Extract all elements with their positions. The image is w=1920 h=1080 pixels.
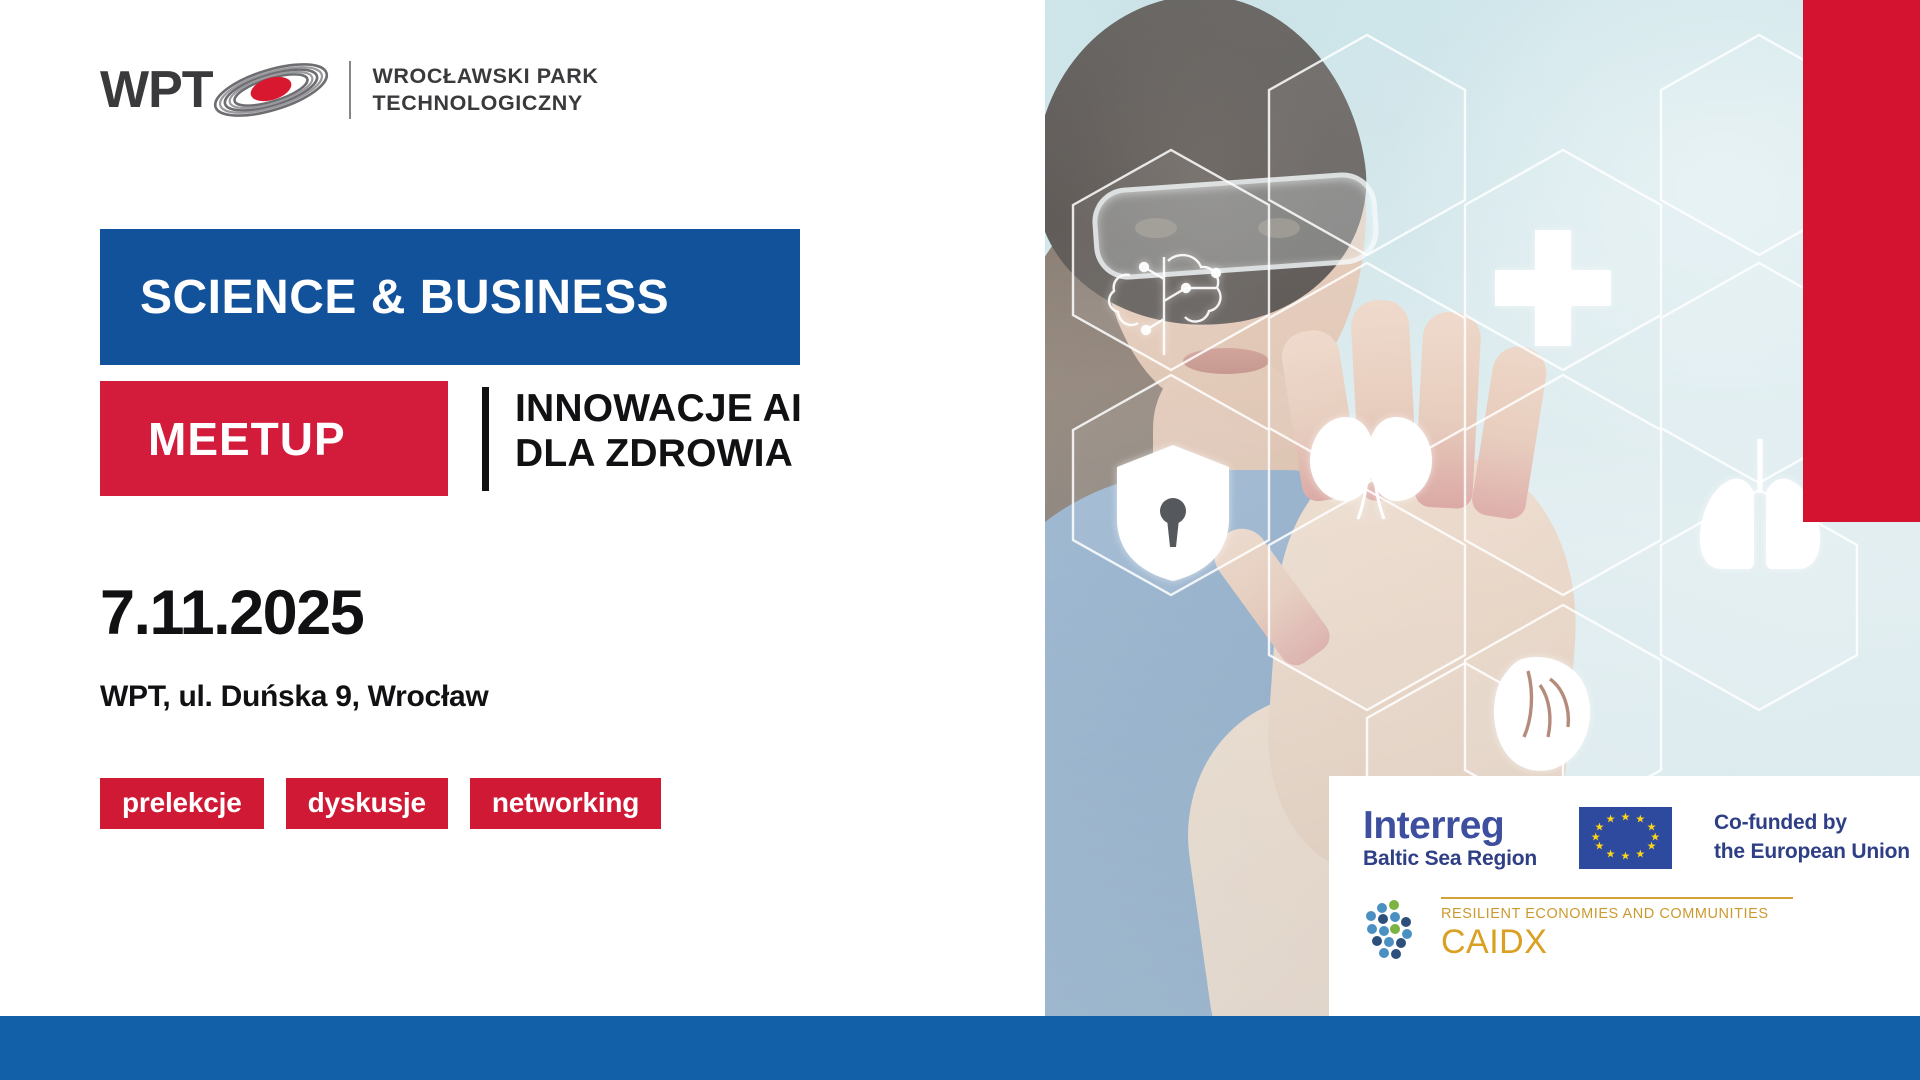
interreg-logo: Interreg Baltic Sea Region (1363, 806, 1537, 869)
eu-flag-icon: ★ ★ ★ ★ ★ ★ ★ ★ ★ ★ ★ ★ (1579, 807, 1672, 869)
event-poster: WPT WROCŁAWSKI PARK (0, 0, 1920, 1080)
event-venue: WPT, ul. Duńska 9, Wrocław (100, 680, 488, 714)
wpt-logo[interactable]: WPT WROCŁAWSKI PARK (100, 52, 599, 128)
meetup-headline-row: MEETUP INNOWACJE AI DLA ZDROWIA (100, 381, 802, 496)
meetup-title-line-2: DLA ZDROWIA (515, 431, 802, 476)
kidneys-icon (1281, 400, 1461, 540)
event-tag-list: prelekcje dyskusje networking (100, 778, 661, 829)
science-business-label: SCIENCE & BUSINESS (140, 270, 669, 325)
interreg-wordmark: Interreg (1363, 806, 1537, 845)
wpt-name-line-1: WROCŁAWSKI PARK (373, 63, 599, 90)
interreg-region-label: Baltic Sea Region (1363, 848, 1537, 869)
left-content-panel: WPT WROCŁAWSKI PARK (0, 0, 1045, 1016)
caidx-logo-row: RESILIENT ECONOMIES AND COMMUNITIES CAID… (1363, 895, 1920, 961)
meetup-title: INNOWACJE AI DLA ZDROWIA (515, 381, 802, 496)
wpt-logo-divider (349, 61, 351, 119)
meetup-title-line-1: INNOWACJE AI (515, 386, 802, 431)
red-accent-block (1803, 0, 1920, 522)
eu-funding-text: Co-funded by the European Union (1714, 809, 1910, 866)
interreg-eu-row: Interreg Baltic Sea Region ★ ★ ★ ★ ★ ★ ★… (1363, 806, 1920, 869)
meetup-chip: MEETUP (100, 381, 448, 496)
science-business-banner: SCIENCE & BUSINESS (100, 229, 800, 365)
partner-logo-panel: Interreg Baltic Sea Region ★ ★ ★ ★ ★ ★ ★… (1329, 776, 1920, 1016)
heart-organ-icon (1473, 640, 1623, 790)
tag-networking[interactable]: networking (470, 778, 661, 829)
tag-prelekcje[interactable]: prelekcje (100, 778, 264, 829)
bottom-accent-bar (0, 1016, 1920, 1080)
eu-funding-line-1: Co-funded by (1714, 809, 1910, 837)
event-date: 7.11.2025 (100, 577, 363, 649)
wpt-swoosh-icon (207, 55, 335, 125)
meetup-chip-label: MEETUP (148, 412, 346, 466)
eu-funding-line-2: the European Union (1714, 838, 1910, 866)
caidx-rule (1441, 897, 1793, 899)
caidx-dots-icon (1363, 899, 1425, 961)
wpt-logo-wordmark: WPT (100, 64, 213, 116)
tag-dyskusje[interactable]: dyskusje (286, 778, 448, 829)
wpt-name-line-2: TECHNOLOGICZNY (373, 90, 599, 117)
medical-cross-icon (1483, 218, 1623, 358)
meetup-divider (482, 387, 489, 491)
caidx-wordmark: CAIDX (1441, 925, 1793, 959)
shield-lock-icon (1103, 438, 1243, 588)
wpt-logo-name: WROCŁAWSKI PARK TECHNOLOGICZNY (373, 63, 599, 117)
caidx-text-block: RESILIENT ECONOMIES AND COMMUNITIES CAID… (1441, 895, 1793, 959)
caidx-tagline: RESILIENT ECONOMIES AND COMMUNITIES (1441, 906, 1793, 922)
brain-circuit-icon (1089, 222, 1259, 372)
